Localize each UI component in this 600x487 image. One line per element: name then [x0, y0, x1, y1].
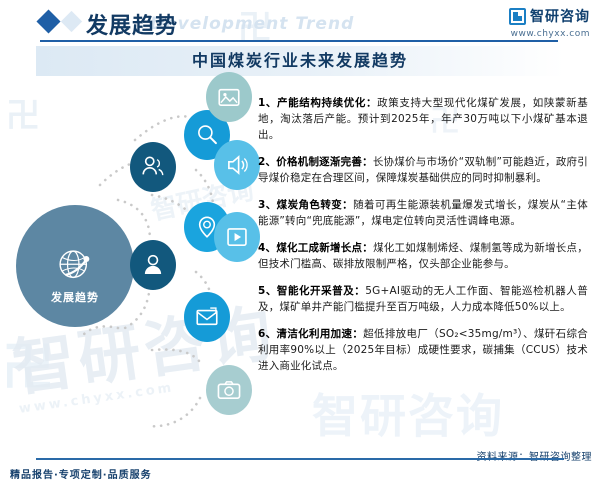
content-item-5: 5、智能化开采普及：5G+AI驱动的无人工作面、智能巡检机器人普及，煤矿单井产能… [258, 283, 588, 315]
header-divider [40, 40, 558, 42]
brand-logo-icon [509, 8, 526, 25]
node-users [130, 142, 176, 192]
diamond-ghost-icon [61, 11, 82, 32]
content-item-4-index: 4、 [258, 242, 276, 254]
content-item-5-index: 5、 [258, 285, 277, 297]
content-item-1-index: 1、 [258, 97, 277, 109]
node-play [214, 212, 260, 262]
center-node-label: 发展趋势 [16, 289, 134, 305]
page-title: 发展趋势 [86, 8, 178, 40]
diamond-icon [36, 9, 60, 33]
content-item-6-title: 清洁化利用加速： [276, 328, 363, 340]
mail-icon [194, 304, 220, 330]
brand-row: 智研咨询 [509, 6, 590, 26]
content-item-2: 2、价格机制逐渐完善：长协煤价与市场价“双轨制”可能趋近，政府引导煤价稳定在合理… [258, 154, 588, 186]
content-item-6-index: 6、 [258, 328, 276, 340]
center-node-globe: 发展趋势 [16, 205, 134, 327]
node-user [130, 240, 176, 290]
source-note: 资料来源：智研咨询整理 [477, 448, 593, 463]
image-icon [216, 84, 242, 110]
globe-icon [54, 245, 96, 287]
users-icon [140, 154, 166, 180]
content-item-2-title: 价格机制逐渐完善： [276, 156, 373, 168]
node-mail [184, 292, 230, 342]
banner-title: 中国煤炭行业未来发展趋势 [0, 46, 600, 76]
user-icon [140, 252, 166, 278]
footer-slogan: 精品报告·专项定制·品质服务 [10, 466, 152, 481]
camera-icon [216, 377, 242, 403]
content-item-3-title: 煤炭角色转变： [277, 199, 353, 211]
brand-block: 智研咨询 www.chyxx.com [509, 6, 590, 39]
content-item-6: 6、清洁化利用加速：超低排放电厂（SO₂<35mg/m³）、煤矸石综合利用率90… [258, 326, 588, 374]
watermark-brand-right: 智研咨询 [312, 380, 504, 446]
node-camera [206, 365, 252, 415]
speaker-icon [224, 152, 250, 178]
content-list: 1、产能结构持续优化：政策支持大型现代化煤矿发展，如陕蒙新基地，淘汰落后产能。预… [258, 84, 588, 385]
search-icon [194, 122, 220, 148]
content-item-1-title: 产能结构持续优化： [277, 97, 377, 109]
node-image [206, 72, 252, 122]
content-item-1: 1、产能结构持续优化：政策支持大型现代化煤矿发展，如陕蒙新基地，淘汰落后产能。预… [258, 95, 588, 143]
infographic: 发展趋势 [0, 80, 230, 450]
poster-page: 卍 卍 卍 智研咨询 卍 智研咨询 www.chyxx.com 智研咨询 Dev… [0, 0, 600, 487]
content-item-4-title: 煤化工成新增长点： [276, 242, 373, 254]
content-item-3-index: 3、 [258, 199, 277, 211]
brand-name: 智研咨询 [530, 6, 590, 26]
footer-divider [36, 458, 564, 460]
page-header: Development Trend 发展趋势 智研咨询 www.chyxx.co… [0, 0, 600, 43]
content-item-4: 4、煤化工成新增长点：煤化工如煤制烯烃、煤制氢等成为新增长点，但技术门槛高、碳排… [258, 240, 588, 272]
header-subtitle: Development Trend [150, 14, 354, 34]
brand-url: www.chyxx.com [509, 29, 590, 39]
content-item-2-index: 2、 [258, 156, 276, 168]
node-speaker [214, 140, 260, 190]
play-icon [224, 224, 250, 250]
content-item-5-title: 智能化开采普及： [277, 285, 365, 297]
content-item-3: 3、煤炭角色转变：随着可再生能源装机量爆发式增长，煤炭从“主体能源”转向“兜底能… [258, 197, 588, 229]
